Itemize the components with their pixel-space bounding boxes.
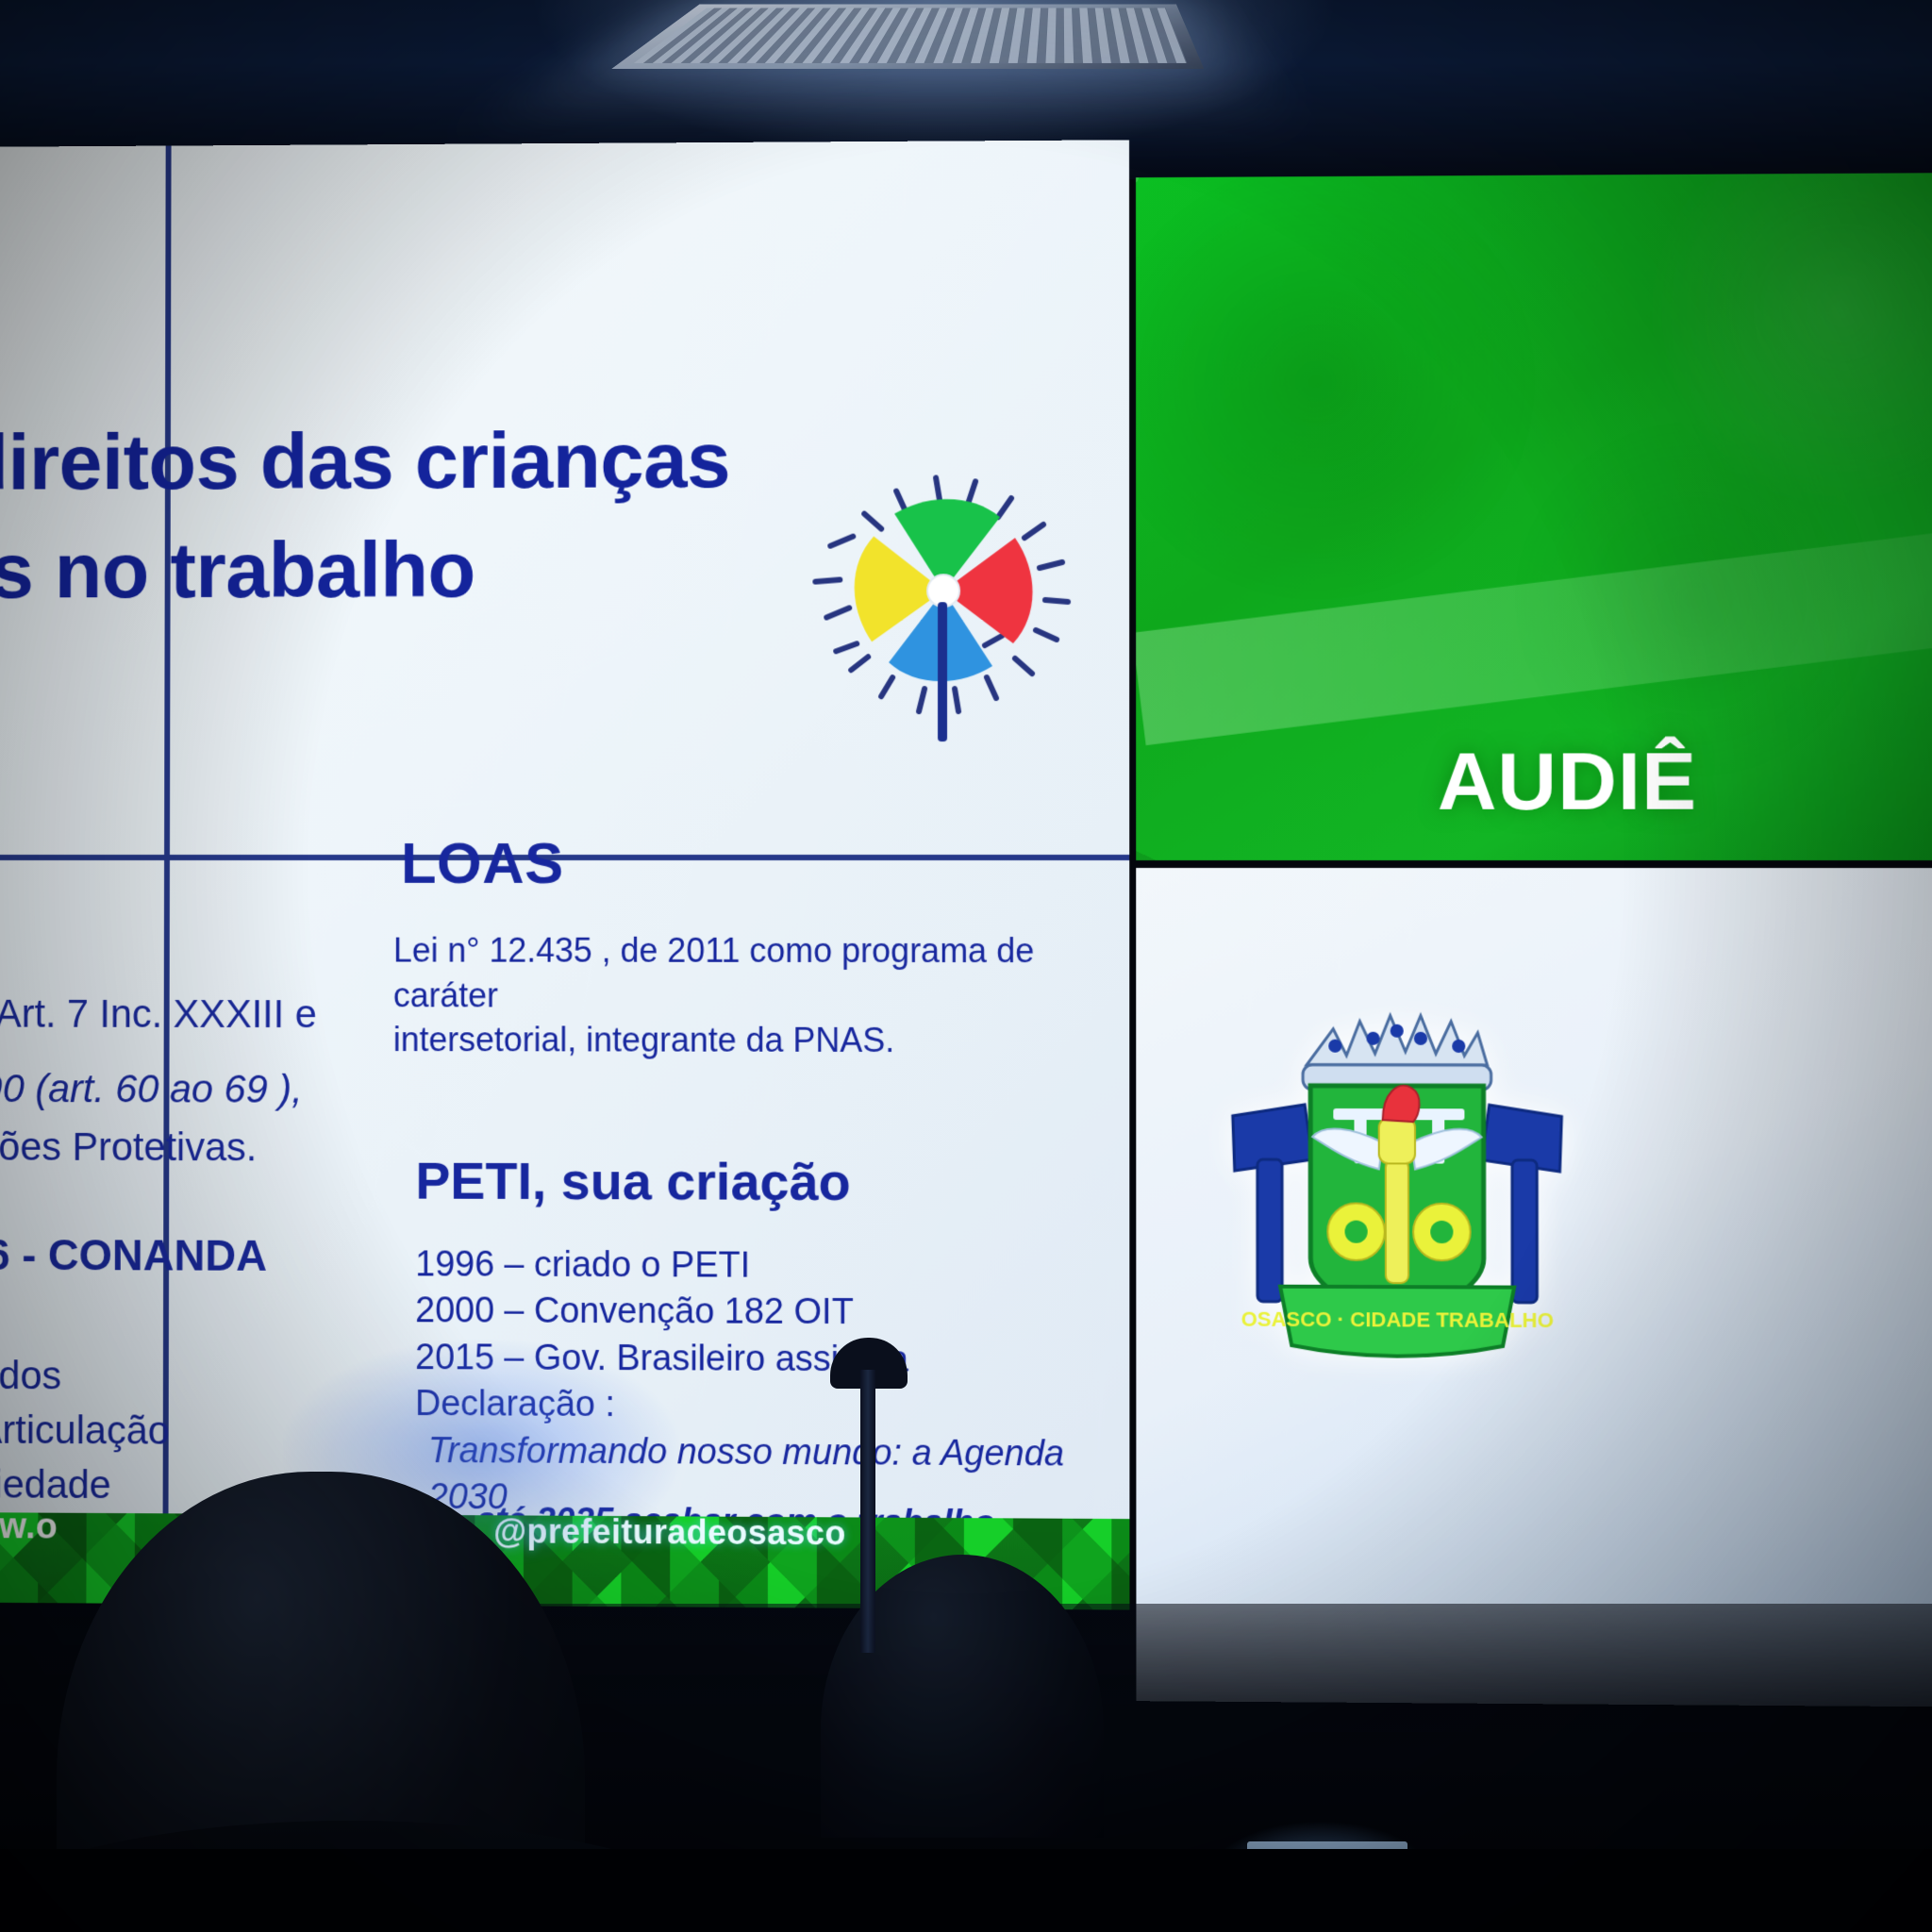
crest-motto-text: OSASCO · CIDADE TRABALHO bbox=[1241, 1307, 1554, 1333]
cata-vento-pinwheel-icon bbox=[774, 423, 1113, 762]
left-col-line-3: ações Protetivas. bbox=[0, 1124, 257, 1171]
left-col-line-2: 990 (art. 60 ao 69 ), bbox=[0, 1066, 303, 1111]
foreground-desk-edge bbox=[0, 1849, 1932, 1932]
microphone-stand bbox=[860, 1370, 875, 1653]
brasao-de-osasco-crest-icon: OSASCO · CIDADE TRABALHO bbox=[1192, 974, 1602, 1382]
peti-item-2: 2000 – Convenção 182 OIT bbox=[415, 1289, 1092, 1338]
photo-scene: direitos das crianças es no trabalho bbox=[0, 0, 1932, 1932]
loas-title: LOAS bbox=[401, 830, 564, 897]
left-col-line-7: ociedade bbox=[0, 1461, 111, 1507]
right-top-panel: AUDIÊ bbox=[1136, 173, 1932, 860]
audiencia-title: AUDIÊ bbox=[1438, 735, 1697, 829]
loas-body: Lei n° 12.435 , de 2011 como programa de… bbox=[393, 928, 1108, 1063]
left-col-line-6: - Articulação bbox=[0, 1407, 170, 1454]
ceiling-light-fixture bbox=[611, 4, 1204, 69]
presentation-slide-panel: direitos das crianças es no trabalho bbox=[0, 140, 1129, 1519]
peti-item-1: 1996 – criado o PETI bbox=[415, 1241, 1092, 1291]
left-col-line-5: a dos bbox=[0, 1353, 61, 1398]
left-col-heading-conanda: 06 - CONANDA bbox=[0, 1229, 267, 1281]
right-bottom-panel: OSASCO · CIDADE TRABALHO bbox=[1136, 868, 1932, 1707]
loas-body-line2: intersetorial, integrante da PNAS. bbox=[393, 1017, 1108, 1063]
peti-title: PETI, sua criação bbox=[415, 1150, 850, 1212]
slide-headline-line1: direitos das crianças bbox=[0, 420, 730, 503]
banner-site-url: ww.o bbox=[0, 1512, 58, 1547]
loas-body-line1: Lei n° 12.435 , de 2011 como programa de… bbox=[393, 928, 1108, 1019]
left-col-line-1: – Art. 7 Inc. XXXIII e bbox=[0, 991, 317, 1037]
slide-headline-line2: es no trabalho bbox=[0, 530, 475, 611]
